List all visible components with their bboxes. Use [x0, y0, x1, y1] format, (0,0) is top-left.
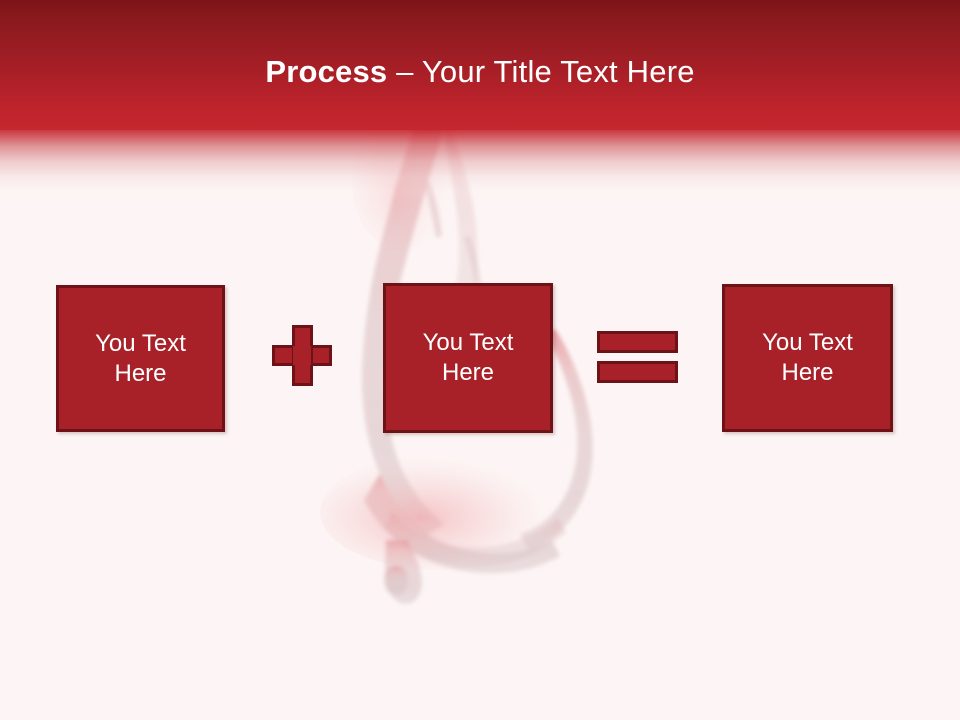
process-box-1[interactable]: You Text Here [56, 285, 225, 432]
equals-icon [597, 331, 678, 384]
process-box-3-label: You Text Here [738, 328, 878, 388]
plus-joint [293, 346, 311, 365]
process-box-1-label: You Text Here [71, 329, 211, 389]
equals-top-bar [597, 331, 678, 353]
process-box-2[interactable]: You Text Here [383, 283, 553, 433]
process-box-3[interactable]: You Text Here [722, 284, 893, 432]
page-title-emphasis: Process [265, 54, 387, 89]
slide-canvas: Process – Your Title Text Here You Text … [0, 0, 960, 720]
process-diagram: You Text Here You Text Here You Text Her… [0, 0, 960, 720]
page-title-rest: – Your Title Text Here [387, 54, 694, 89]
equals-bottom-bar [597, 361, 678, 383]
page-title: Process – Your Title Text Here [0, 53, 960, 91]
plus-icon [272, 325, 332, 386]
process-box-2-label: You Text Here [398, 328, 538, 388]
